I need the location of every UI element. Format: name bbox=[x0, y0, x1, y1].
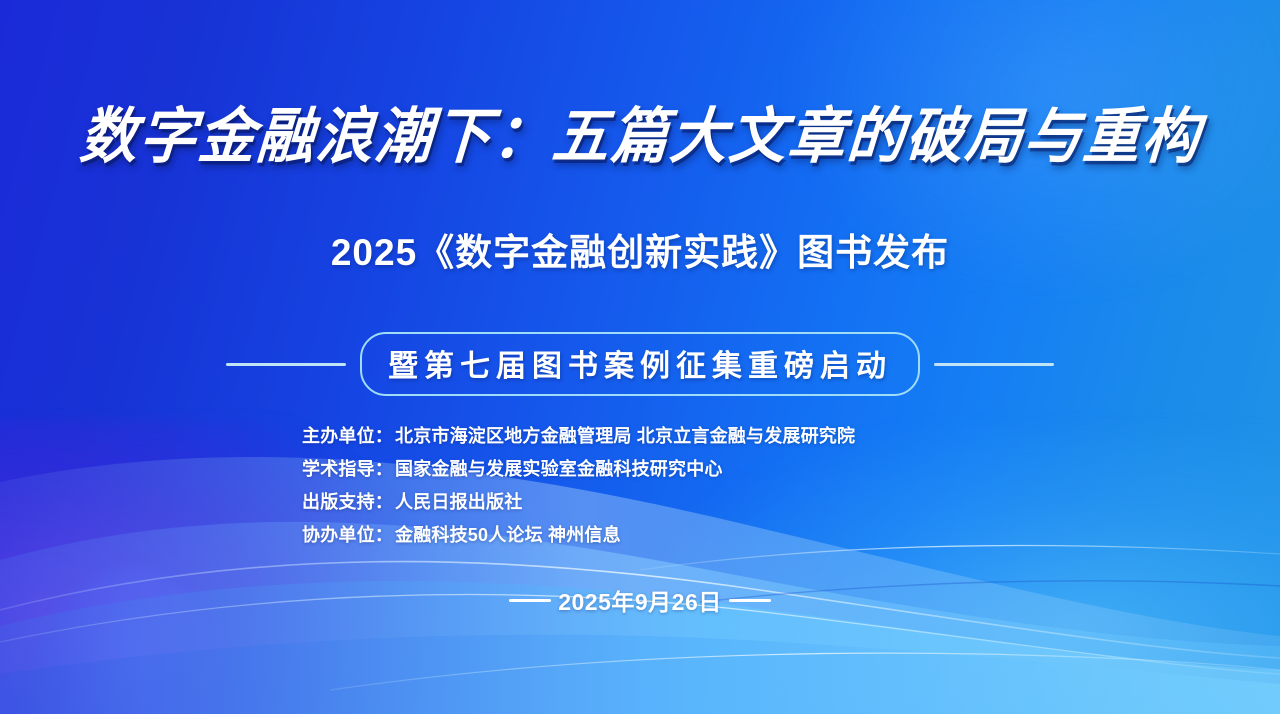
organizer-info-block: 主办单位：北京市海淀区地方金融管理局 北京立言金融与发展研究院 学术指导：国家金… bbox=[302, 422, 1002, 547]
info-value-co-organizer: 金融科技50人论坛 神州信息 bbox=[395, 525, 621, 545]
sub-title: 2025《数字金融创新实践》图书发布 bbox=[331, 222, 949, 276]
event-date: 2025年9月26日 bbox=[558, 583, 722, 617]
banner-rule-right bbox=[934, 363, 1054, 366]
banner-row: 暨第七届图书案例征集重磅启动 bbox=[130, 332, 1150, 396]
date-dash-left bbox=[509, 599, 551, 602]
poster-content: 数字金融浪潮下：五篇大文章的破局与重构 2025《数字金融创新实践》图书发布 暨… bbox=[0, 0, 1280, 714]
info-value-publishing-support: 人民日报出版社 bbox=[395, 492, 522, 512]
main-title: 数字金融浪潮下：五篇大文章的破局与重构 bbox=[77, 104, 1203, 169]
info-line-co-organizer: 协办单位：金融科技50人论坛 神州信息 bbox=[302, 521, 621, 547]
event-poster: 数字金融浪潮下：五篇大文章的破局与重构 2025《数字金融创新实践》图书发布 暨… bbox=[0, 0, 1280, 714]
info-line-publishing-support: 出版支持：人民日报出版社 bbox=[302, 488, 522, 514]
banner-text: 暨第七届图书案例征集重磅启动 bbox=[388, 341, 892, 385]
info-value-academic-guidance: 国家金融与发展实验室金融科技研究中心 bbox=[395, 459, 723, 479]
info-line-host: 主办单位：北京市海淀区地方金融管理局 北京立言金融与发展研究院 bbox=[302, 422, 855, 448]
banner-bracket: 暨第七届图书案例征集重磅启动 bbox=[360, 332, 920, 396]
info-value-host: 北京市海淀区地方金融管理局 北京立言金融与发展研究院 bbox=[395, 426, 855, 446]
date-row: 2025年9月26日 bbox=[509, 583, 771, 617]
info-label-publishing-support: 出版支持： bbox=[302, 492, 393, 512]
info-line-academic-guidance: 学术指导：国家金融与发展实验室金融科技研究中心 bbox=[302, 455, 723, 481]
info-label-academic-guidance: 学术指导： bbox=[302, 459, 393, 479]
info-label-co-organizer: 协办单位： bbox=[302, 525, 393, 545]
banner-rule-left bbox=[226, 363, 346, 366]
info-label-host: 主办单位： bbox=[302, 426, 393, 446]
date-dash-right bbox=[729, 599, 771, 602]
